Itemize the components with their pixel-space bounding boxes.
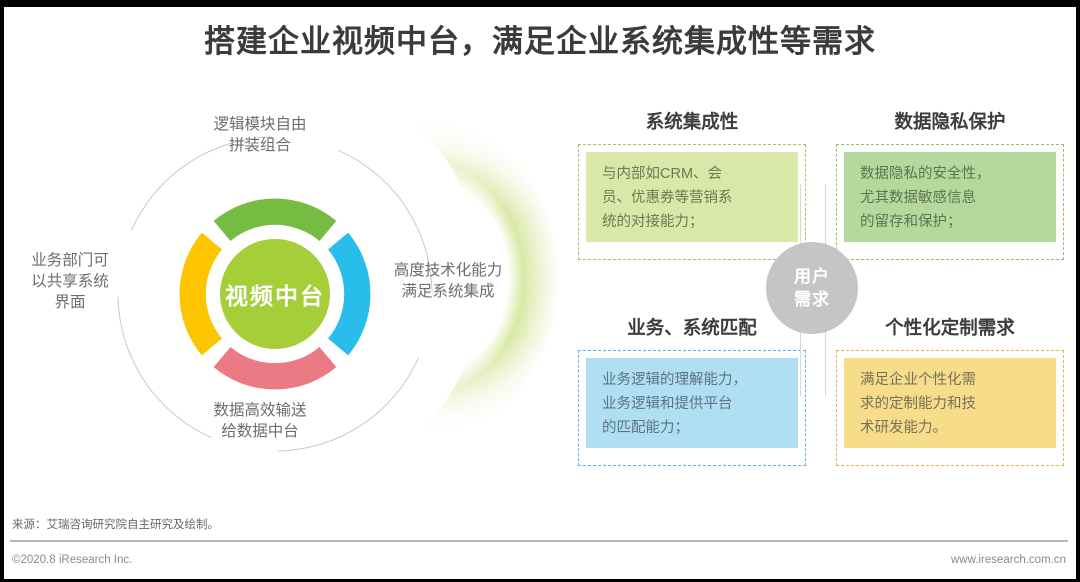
user-needs-panel: 系统集成性 与内部如CRM、会 员、优惠券等营销系 统的对接能力； 数据隐私保护… <box>560 100 1076 490</box>
website-url: www.iresearch.com.cn <box>951 554 1066 566</box>
card-heading-data-privacy: 数据隐私保护 <box>836 108 1064 134</box>
donut-segment-right <box>328 233 370 356</box>
user-needs-hub: 用户 需求 <box>766 242 858 334</box>
ring-label-right: 高度技术化能力 满足系统集成 <box>368 260 528 302</box>
card-body-system-integration[interactable]: 与内部如CRM、会 员、优惠券等营销系 统的对接能力； <box>586 152 798 242</box>
video-midplatform-diagram: 视频中台 逻辑模块自由 拼装组合 高度技术化能力 满足系统集成 数据高效输送 给… <box>0 100 560 490</box>
letterbox-right <box>1076 0 1080 582</box>
ring-label-bottom: 数据高效输送 给数据中台 <box>170 400 350 442</box>
card-body-personalization[interactable]: 满足企业个性化需 求的定制能力和技 术研发能力。 <box>844 358 1056 448</box>
donut-segment-bottom <box>214 347 337 389</box>
hub-line-2: 需求 <box>794 288 830 311</box>
page-title: 搭建企业视频中台，满足企业系统集成性等需求 <box>0 16 1080 61</box>
card-body-business-system-match[interactable]: 业务逻辑的理解能力， 业务逻辑和提供平台 的匹配能力； <box>586 358 798 448</box>
card-heading-business-system-match: 业务、系统匹配 <box>578 314 806 340</box>
letterbox-top <box>0 0 1080 7</box>
ring-label-top: 逻辑模块自由 拼装组合 <box>175 114 345 156</box>
donut-segment-top <box>214 199 337 241</box>
footer-divider <box>10 540 1068 542</box>
ring-label-left: 业务部门可 以共享系统 界面 <box>5 250 135 313</box>
card-body-data-privacy[interactable]: 数据隐私的安全性， 尤其数据敏感信息 的留存和保护； <box>844 152 1056 242</box>
donut-segment-left <box>180 233 222 356</box>
hub-line-1: 用户 <box>794 265 830 288</box>
card-heading-system-integration: 系统集成性 <box>578 108 806 134</box>
donut-chart <box>157 176 393 412</box>
source-note: 来源：艾瑞咨询研究院自主研究及绘制。 <box>12 516 219 532</box>
slide-canvas: 搭建企业视频中台，满足企业系统集成性等需求 视频中台 逻辑模块自 <box>0 0 1080 582</box>
card-heading-personalization: 个性化定制需求 <box>836 314 1064 340</box>
copyright-note: ©2020.8 iResearch Inc. <box>12 554 132 566</box>
donut-core <box>220 239 330 349</box>
